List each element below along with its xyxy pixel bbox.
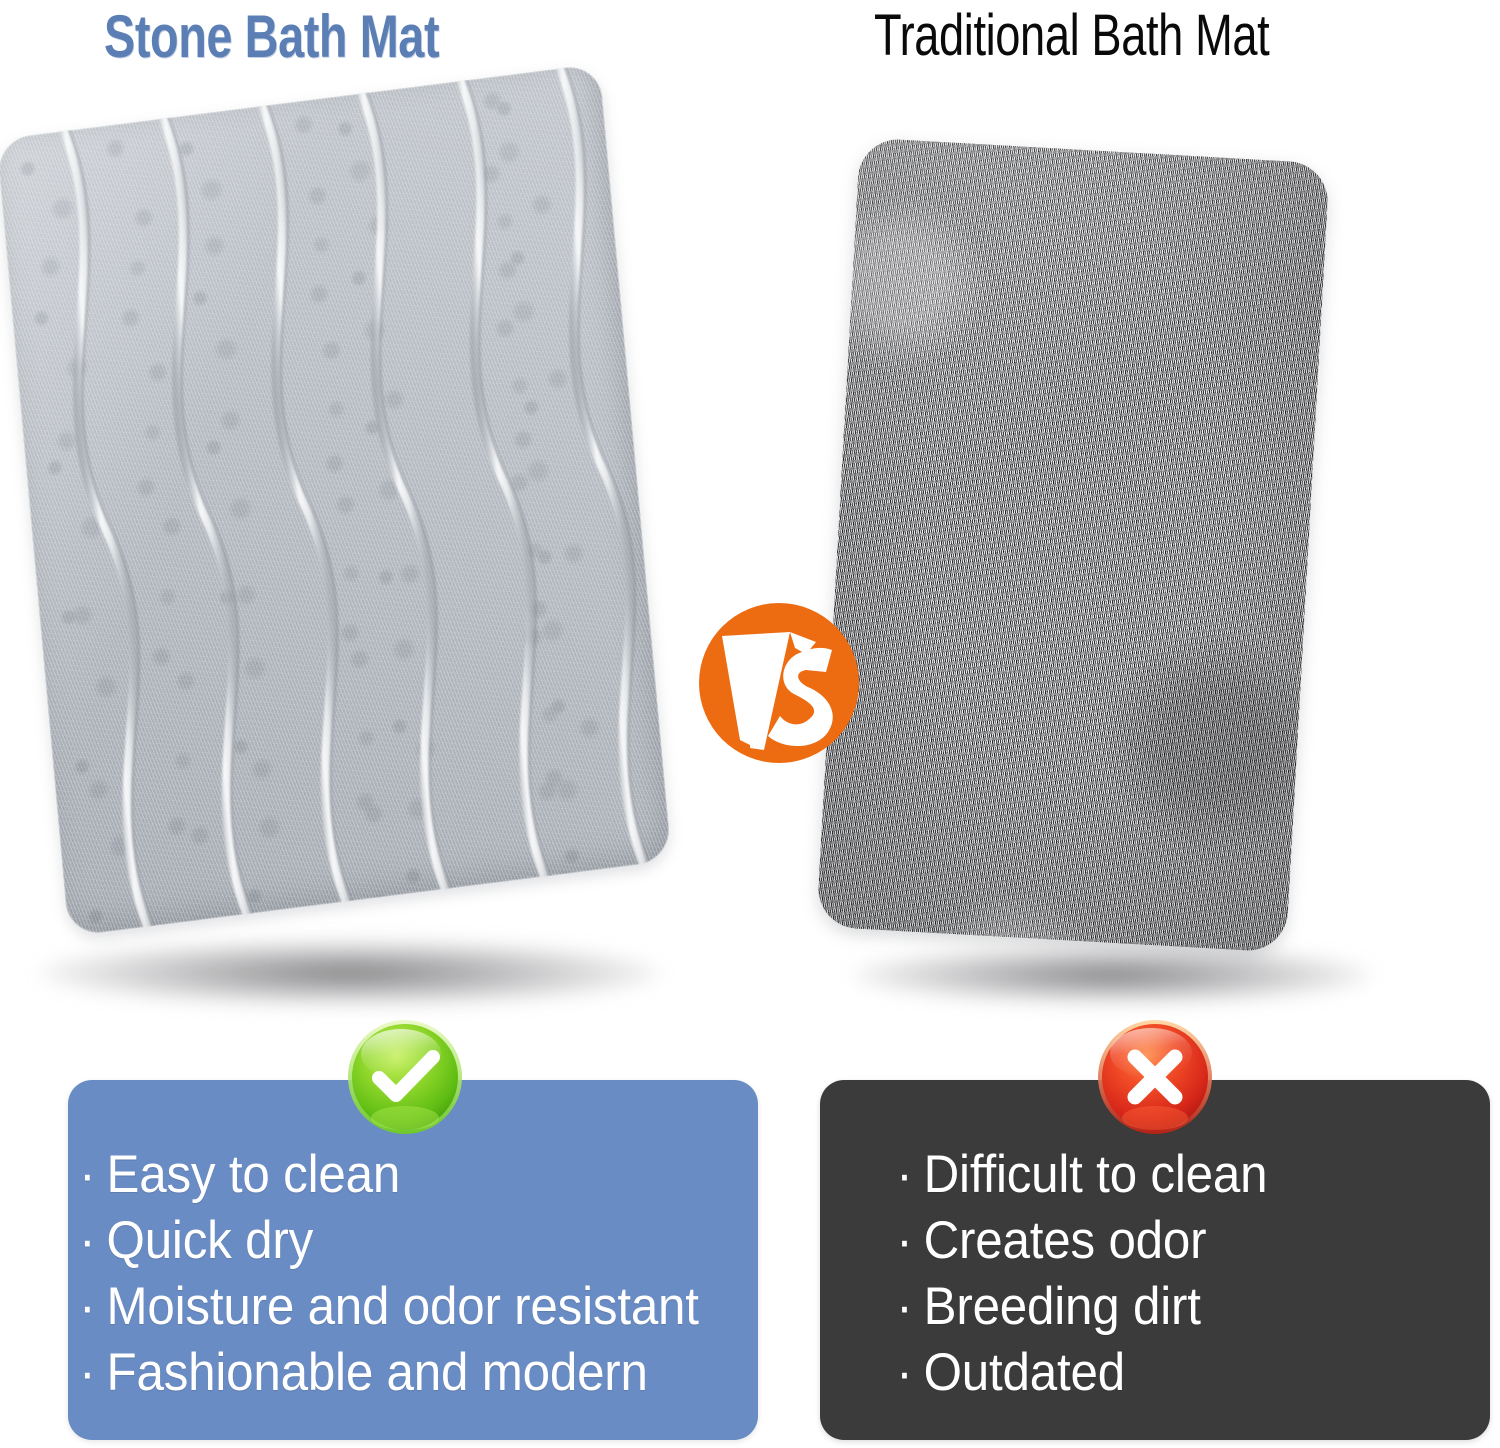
- list-item-label: Difficult to clean: [924, 1145, 1268, 1204]
- stone-mat-wave-pattern: [0, 63, 672, 936]
- list-item-label: Quick dry: [107, 1211, 313, 1270]
- check-circle-icon: [346, 1018, 464, 1136]
- list-item: ·Fashionable and modern: [68, 1340, 710, 1406]
- list-item-label: Creates odor: [924, 1211, 1207, 1270]
- cross-circle-icon: [1096, 1018, 1214, 1136]
- list-item-label: Outdated: [924, 1343, 1125, 1402]
- versus-badge: [694, 598, 864, 768]
- list-item-label: Moisture and odor resistant: [107, 1277, 699, 1336]
- list-item: ·Moisture and odor resistant: [68, 1274, 710, 1340]
- bullet-icon: ·: [79, 1142, 95, 1208]
- stone-mat-drop-shadow: [40, 940, 660, 1006]
- list-item-label: Easy to clean: [107, 1145, 401, 1204]
- page-title-stone-bath-mat: Stone Bath Mat: [104, 2, 439, 71]
- list-item-label: Fashionable and modern: [107, 1343, 648, 1402]
- list-item-label: Breeding dirt: [924, 1277, 1201, 1336]
- list-item: ·Easy to clean: [68, 1142, 710, 1208]
- bullet-icon: ·: [79, 1274, 95, 1340]
- list-item: ·Breeding dirt: [820, 1274, 1443, 1340]
- bullet-icon: ·: [896, 1142, 912, 1208]
- bullet-icon: ·: [896, 1340, 912, 1406]
- list-item: ·Quick dry: [68, 1208, 710, 1274]
- bullet-icon: ·: [896, 1274, 912, 1340]
- list-item: ·Outdated: [820, 1340, 1443, 1406]
- traditional-mat-shading: [816, 137, 1329, 952]
- cons-list: ·Difficult to clean ·Creates odor ·Breed…: [820, 1142, 1490, 1406]
- stone-bath-mat-image: [0, 63, 672, 936]
- list-item: ·Creates odor: [820, 1208, 1443, 1274]
- bullet-icon: ·: [896, 1208, 912, 1274]
- traditional-mat-drop-shadow: [852, 946, 1372, 1004]
- bullet-icon: ·: [79, 1208, 95, 1274]
- product-comparison-stage: [0, 80, 1500, 960]
- list-item: ·Difficult to clean: [820, 1142, 1443, 1208]
- traditional-bath-mat-image: [816, 137, 1329, 952]
- page-title-traditional-bath-mat: Traditional Bath Mat: [874, 2, 1269, 69]
- pros-list: ·Easy to clean ·Quick dry ·Moisture and …: [68, 1142, 758, 1406]
- bullet-icon: ·: [79, 1340, 95, 1406]
